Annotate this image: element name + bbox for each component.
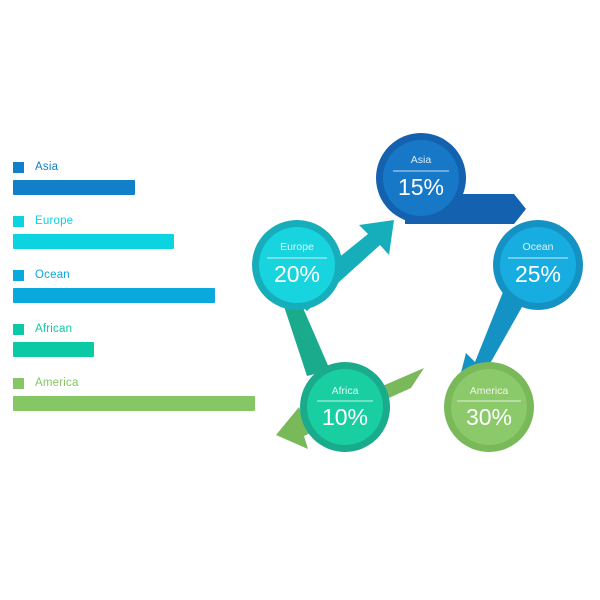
node-america-title: America bbox=[470, 385, 509, 397]
legend-label-ocean: Ocean bbox=[35, 269, 70, 281]
legend-label-europe: Europe bbox=[35, 215, 73, 227]
node-europe[interactable]: Europe 20% bbox=[252, 220, 342, 310]
infographic-canvas: Asia Europe Ocean African bbox=[0, 0, 600, 600]
legend-label-african: African bbox=[35, 323, 72, 335]
legend-bar-list: Asia Europe Ocean African bbox=[13, 160, 263, 430]
legend-head-asia: Asia bbox=[13, 160, 263, 174]
node-asia-title: Asia bbox=[411, 154, 432, 166]
legend-swatch-icon-african bbox=[13, 324, 24, 335]
pentagram-cycle-diagram: Asia 15% Ocean 25% America 30% bbox=[235, 110, 600, 490]
node-europe-title: Europe bbox=[280, 241, 314, 253]
node-asia[interactable]: Asia 15% bbox=[376, 133, 466, 223]
legend-row-europe[interactable]: Europe bbox=[13, 214, 263, 249]
legend-bar-ocean bbox=[13, 288, 215, 303]
legend-swatch-icon-europe bbox=[13, 216, 24, 227]
legend-row-ocean[interactable]: Ocean bbox=[13, 268, 263, 303]
legend-label-america: America bbox=[35, 377, 79, 389]
node-europe-value: 20% bbox=[274, 261, 320, 287]
legend-head-america: America bbox=[13, 376, 263, 390]
node-africa-value: 10% bbox=[322, 404, 368, 430]
node-america[interactable]: America 30% bbox=[444, 362, 534, 452]
legend-label-asia: Asia bbox=[35, 161, 58, 173]
legend-row-asia[interactable]: Asia bbox=[13, 160, 263, 195]
node-ocean-title: Ocean bbox=[523, 241, 554, 253]
legend-bar-asia bbox=[13, 180, 135, 195]
legend-swatch-icon-asia bbox=[13, 162, 24, 173]
node-ocean[interactable]: Ocean 25% bbox=[493, 220, 583, 310]
node-america-value: 30% bbox=[466, 404, 512, 430]
legend-head-europe: Europe bbox=[13, 214, 263, 228]
legend-head-african: African bbox=[13, 322, 263, 336]
legend-bar-african bbox=[13, 342, 94, 357]
node-africa[interactable]: Africa 10% bbox=[300, 362, 390, 452]
legend-head-ocean: Ocean bbox=[13, 268, 263, 282]
legend-bar-america bbox=[13, 396, 255, 411]
node-africa-title: Africa bbox=[332, 385, 359, 397]
node-ocean-value: 25% bbox=[515, 261, 561, 287]
legend-swatch-icon-ocean bbox=[13, 270, 24, 281]
legend-swatch-icon-america bbox=[13, 378, 24, 389]
legend-row-america[interactable]: America bbox=[13, 376, 263, 411]
legend-bar-europe bbox=[13, 234, 174, 249]
legend-row-african[interactable]: African bbox=[13, 322, 263, 357]
node-asia-value: 15% bbox=[398, 174, 444, 200]
